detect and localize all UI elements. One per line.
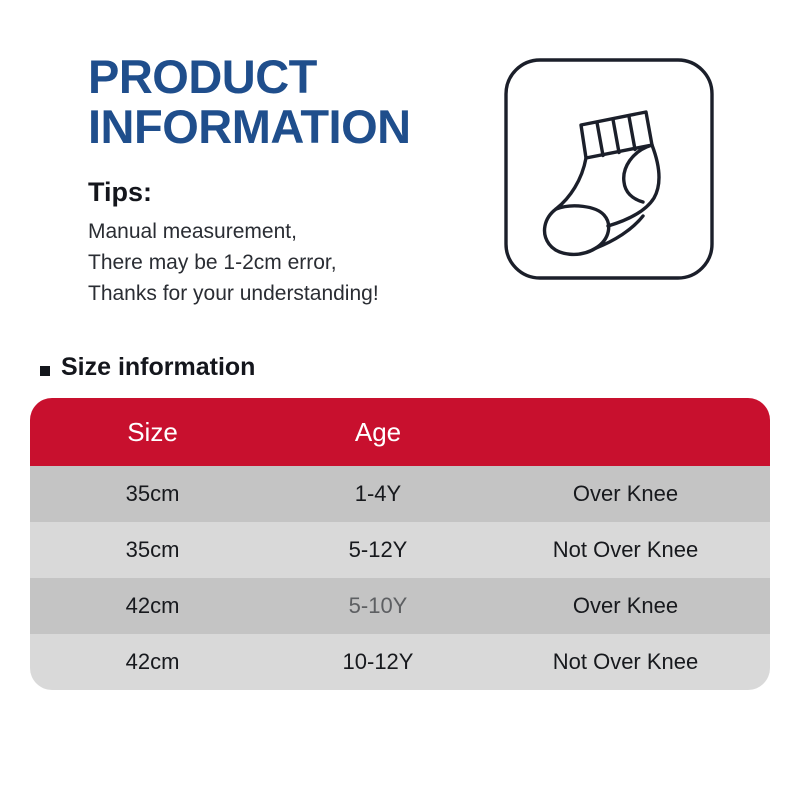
size-information-table: Size Age 35cm 1-4Y Over Knee 35cm 5-12Y … bbox=[30, 398, 770, 690]
page-title-line-2: INFORMATION bbox=[88, 102, 488, 152]
square-bullet-icon bbox=[40, 366, 50, 376]
tips-line-3: Thanks for your understanding! bbox=[88, 278, 488, 309]
cell-note: Over Knee bbox=[481, 466, 770, 522]
cell-size: 35cm bbox=[30, 522, 275, 578]
tips-heading: Tips: bbox=[88, 176, 488, 208]
tips-line-2: There may be 1-2cm error, bbox=[88, 247, 488, 278]
cell-age: 10-12Y bbox=[275, 634, 481, 690]
cell-size: 42cm bbox=[30, 578, 275, 634]
table-row: 35cm 1-4Y Over Knee bbox=[30, 466, 770, 522]
size-information-label: Size information bbox=[61, 352, 255, 382]
table-row: 35cm 5-12Y Not Over Knee bbox=[30, 522, 770, 578]
cell-note: Over Knee bbox=[481, 578, 770, 634]
column-header-note bbox=[481, 398, 770, 466]
cell-age: 5-12Y bbox=[275, 522, 481, 578]
sock-icon-frame bbox=[504, 58, 714, 280]
cell-note: Not Over Knee bbox=[481, 634, 770, 690]
column-header-size: Size bbox=[30, 398, 275, 466]
cell-note: Not Over Knee bbox=[481, 522, 770, 578]
cell-age: 1-4Y bbox=[275, 466, 481, 522]
size-information-heading: Size information bbox=[40, 352, 255, 382]
table-row: 42cm 10-12Y Not Over Knee bbox=[30, 634, 770, 690]
tips-list: Manual measurement, There may be 1-2cm e… bbox=[88, 216, 488, 309]
cell-age: 5-10Y bbox=[275, 578, 481, 634]
cell-size: 35cm bbox=[30, 466, 275, 522]
column-header-age: Age bbox=[275, 398, 481, 466]
header-block: PRODUCT INFORMATION Tips: Manual measure… bbox=[88, 52, 488, 309]
sock-glyph bbox=[545, 112, 660, 254]
rounded-square-frame bbox=[506, 60, 712, 278]
table-header-row: Size Age bbox=[30, 398, 770, 466]
page-title: PRODUCT INFORMATION bbox=[88, 52, 488, 152]
product-information-page: PRODUCT INFORMATION Tips: Manual measure… bbox=[0, 0, 800, 800]
page-title-line-1: PRODUCT bbox=[88, 52, 488, 102]
cell-size: 42cm bbox=[30, 634, 275, 690]
table-row: 42cm 5-10Y Over Knee bbox=[30, 578, 770, 634]
tips-line-1: Manual measurement, bbox=[88, 216, 488, 247]
